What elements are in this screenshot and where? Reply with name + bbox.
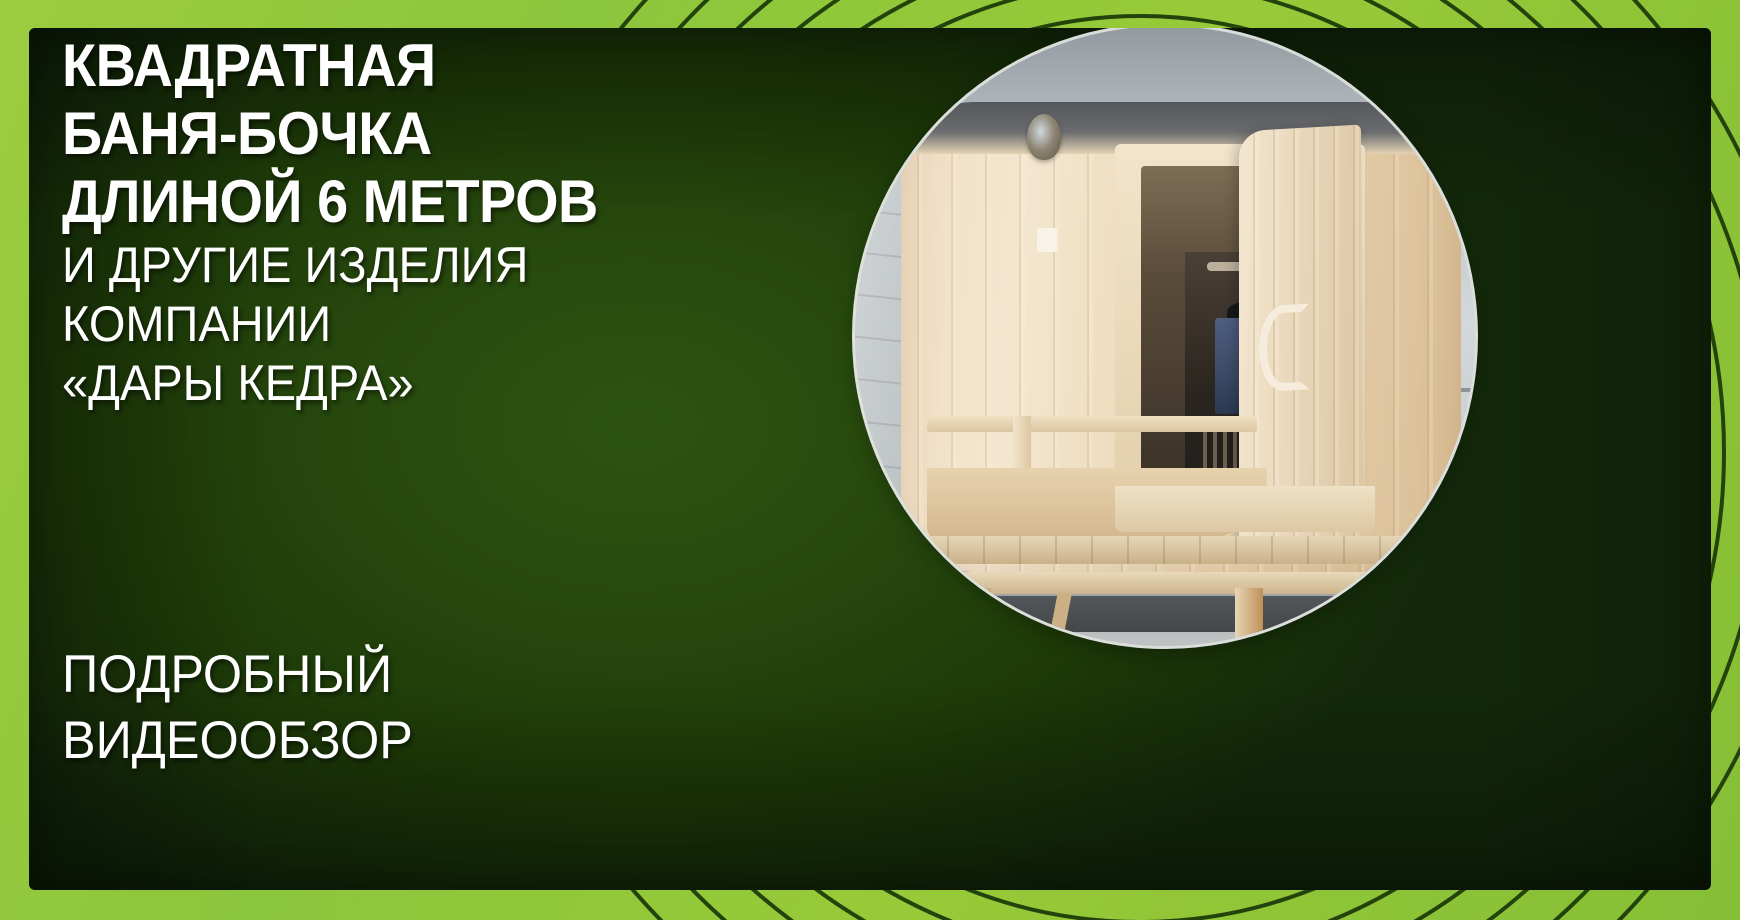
product-photo: [855, 28, 1475, 646]
photo-floor-shadow-band: [855, 596, 1475, 632]
subhead-line-3: «ДАРЫ КЕДРА»: [62, 354, 776, 413]
subhead-line-2: КОМПАНИИ: [62, 295, 776, 354]
photo-wall-lamp: [1027, 114, 1061, 160]
photo-terrace-rail: [927, 416, 1257, 432]
poster-root: КВАДРАТНАЯ БАНЯ-БОЧКА ДЛИНОЙ 6 МЕТРОВ И …: [0, 0, 1740, 920]
photo-scene: [855, 28, 1475, 646]
photo-circle-mask: [855, 28, 1475, 646]
headline-line-1: КВАДРАТНАЯ: [62, 32, 769, 100]
cta-line-2: ВИДЕООБЗОР: [62, 708, 413, 774]
photo-support-beam: [855, 572, 1475, 594]
photo-bench-right: [1115, 486, 1375, 532]
subhead-line-1: И ДРУГИЕ ИЗДЕЛИЯ: [62, 236, 776, 295]
page-subtitle: И ДРУГИЕ ИЗДЕЛИЯ КОМПАНИИ «ДАРЫ КЕДРА»: [62, 236, 776, 413]
photo-light-switch: [1037, 228, 1057, 252]
photo-deck-planks: [875, 536, 1475, 564]
photo-trestle-leg-left: [965, 588, 991, 646]
photo-trestle-leg-right: [1235, 588, 1263, 646]
headline-line-2: БАНЯ-БОЧКА: [62, 100, 769, 168]
cta-line-1: ПОДРОБНЫЙ: [62, 642, 413, 708]
cta-text: ПОДРОБНЫЙ ВИДЕООБЗОР: [62, 642, 413, 773]
headline-line-3: ДЛИНОЙ 6 МЕТРОВ: [62, 168, 769, 236]
content-panel: КВАДРАТНАЯ БАНЯ-БОЧКА ДЛИНОЙ 6 МЕТРОВ И …: [29, 28, 1711, 890]
photo-door-handle: [1259, 303, 1309, 392]
page-title: КВАДРАТНАЯ БАНЯ-БОЧКА ДЛИНОЙ 6 МЕТРОВ: [62, 32, 769, 236]
text-column: КВАДРАТНАЯ БАНЯ-БОЧКА ДЛИНОЙ 6 МЕТРОВ И …: [62, 32, 822, 413]
